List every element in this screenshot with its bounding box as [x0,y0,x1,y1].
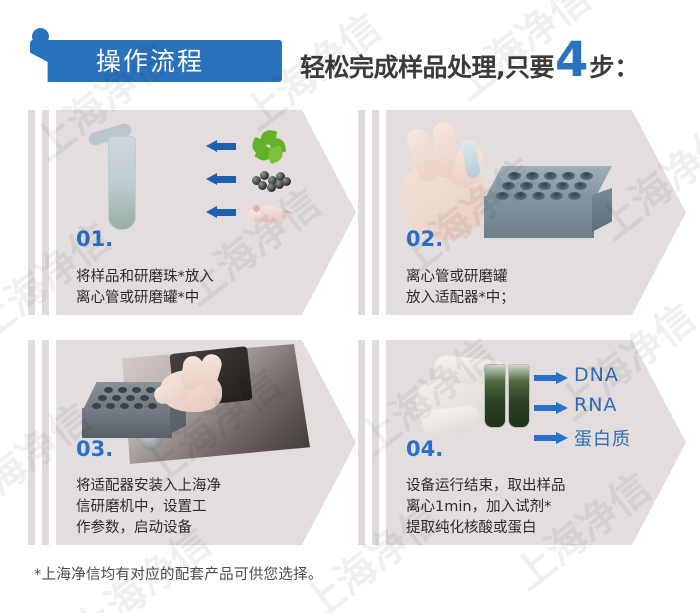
headline-part1: 轻松完成样品处理,只要 [300,48,554,84]
headline-step-count: 4 [555,40,588,81]
step-description-line: 提取纯化核酸或蛋白 [406,518,671,539]
step-number: 03. [76,437,113,461]
mouse-icon [248,202,292,224]
step-number: 02. [406,227,443,251]
step-description-line: 设备运行结束，取出样品 [406,476,671,497]
plant-icon [252,130,286,160]
steps-grid: 01. 将样品和研磨珠*放入 离心管或研磨罐*中 [0,100,700,550]
card-accent-bar [28,340,35,545]
step-description: 将适配器安装入上海净 信研磨机中，设置工 作参数，启动设备 [76,476,341,539]
centrifuge-tube-icon [108,136,136,230]
card-accent-bar [42,340,49,545]
step-description-line: 离心1min，加入试剂* [406,497,671,518]
step-number: 04. [406,437,443,461]
step-card-body: 03. 将适配器安装入上海净 信研磨机中，设置工 作参数，启动设备 [56,340,356,545]
right-arrow-icon [534,372,568,384]
step-description-line: 将样品和研磨珠*放入 [76,267,341,288]
step-description: 离心管或研磨罐 放入适配器*中； [406,267,671,309]
step-description-line: 放入适配器*中； [406,288,671,309]
right-arrow-icon [534,402,568,414]
hand-icon [154,354,234,416]
card-accent-bar [372,110,379,315]
adapter-block-icon [484,166,612,238]
footnote: *上海净信均有对应的配套产品可供您选择。 [34,563,323,584]
step-card-01: 01. 将样品和研磨珠*放入 离心管或研磨罐*中 [28,110,358,315]
step-description-line: 作参数，启动设备 [76,518,341,539]
step-card-body: 02. 离心管或研磨罐 放入适配器*中； [386,110,686,315]
step-card-02: 02. 离心管或研磨罐 放入适配器*中； [358,110,688,315]
step-card-body: DNA RNA 蛋白质 04. 设备运行结束，取出样品 离心1min，加入试剂*… [386,340,686,545]
step-description-line: 将适配器安装入上海净 [76,476,341,497]
step-description: 设备运行结束，取出样品 离心1min，加入试剂* 提取纯化核酸或蛋白 [406,476,671,539]
left-arrow-icon [206,173,236,185]
section-tag-label: 操作流程 [96,41,204,83]
step-card-03: 03. 将适配器安装入上海净 信研磨机中，设置工 作参数，启动设备 [28,340,358,545]
output-label-dna: DNA [574,364,619,386]
left-arrow-icon [206,140,236,152]
section-tag: 操作流程 [30,28,290,84]
step-description-line: 离心管或研磨罐 [406,267,671,288]
left-arrow-icon [206,206,236,218]
card-accent-bar [42,110,49,315]
sample-vial-icon [508,364,530,428]
card-accent-bar [28,110,35,315]
step-description: 将样品和研磨珠*放入 离心管或研磨罐*中 [76,267,341,309]
card-accent-bar [358,340,365,545]
right-arrow-icon [534,432,568,444]
card-accent-bar [372,340,379,545]
step-card-body: 01. 将样品和研磨珠*放入 离心管或研磨罐*中 [56,110,356,315]
step-card-04: DNA RNA 蛋白质 04. 设备运行结束，取出样品 离心1min，加入试剂*… [358,340,688,545]
step-number: 01. [76,227,113,251]
headline: 轻松完成样品处理,只要 4 步 ： [300,40,690,88]
headline-colon: ： [614,48,639,84]
output-label-rna: RNA [574,394,617,416]
step-description-line: 信研磨机中，设置工 [76,497,341,518]
card-accent-bar [358,110,365,315]
headline-part2: 步 [589,48,614,84]
sample-vial-icon [484,364,506,428]
step-description-line: 离心管或研磨罐*中 [76,288,341,309]
output-label-protein: 蛋白质 [574,425,631,451]
grinding-beads-icon [250,168,290,192]
page-header: 操作流程 轻松完成样品处理,只要 4 步 ： [0,0,700,100]
